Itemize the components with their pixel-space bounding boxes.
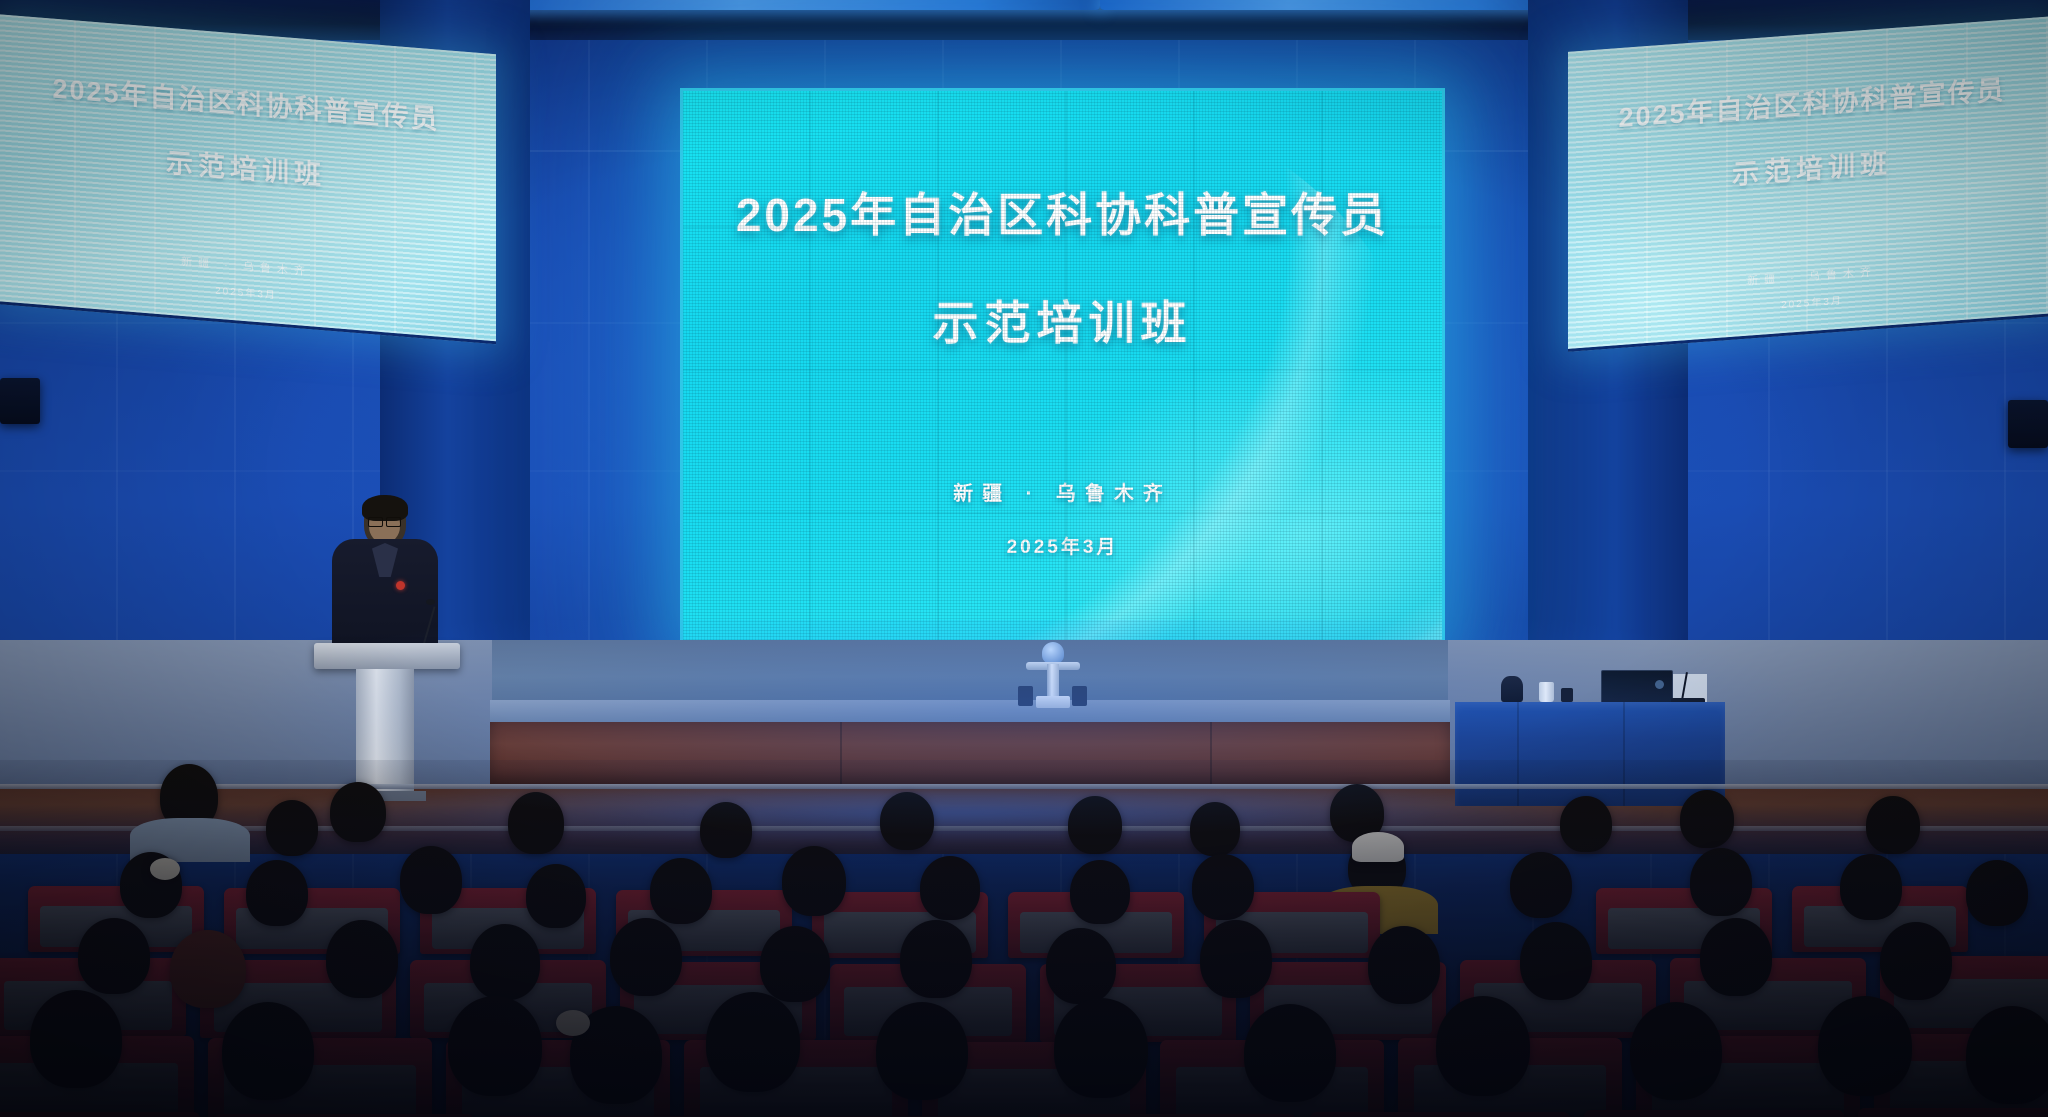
device-column xyxy=(1047,664,1059,698)
slide-date: 2025年3月 xyxy=(1007,532,1119,559)
device-head xyxy=(1042,642,1064,664)
seated-audience xyxy=(0,760,2048,1117)
right-screen-scanlines xyxy=(1568,16,2048,349)
audience-shadow-overlay xyxy=(0,760,2048,1117)
device-box-right xyxy=(1072,686,1087,706)
right-led-screen: 2025年自治区科协科普宣传员 示范培训班 新疆 · 乌鲁木齐 2025年3月 xyxy=(1568,16,2048,352)
stage-projector-device xyxy=(1020,640,1086,710)
device-box-left xyxy=(1018,686,1033,706)
ceiling-light-strip-right xyxy=(1100,0,1570,10)
speaker-glasses xyxy=(368,517,401,525)
paper-cup xyxy=(1539,682,1554,702)
podium-microphone-head xyxy=(426,599,435,605)
left-led-screen: 2025年自治区科协科普宣传员 示范培训班 新疆 · 乌鲁木齐 2025年3月 xyxy=(0,14,496,344)
ceiling-light-strip-left xyxy=(500,0,1100,10)
podium-top xyxy=(314,643,460,669)
auditorium-photo: 2025年自治区科协科普宣传员 示范培训班 新疆 · 乌鲁木齐 2025年3月 … xyxy=(0,0,2048,1117)
wall-speaker-left xyxy=(0,378,40,424)
device-base xyxy=(1036,696,1070,708)
slide-location: 新疆 · 乌鲁木齐 xyxy=(953,477,1172,506)
small-box-item xyxy=(1561,688,1573,702)
thermos-flask xyxy=(1501,676,1523,702)
speaker-at-podium xyxy=(310,495,460,795)
slide-title-line-2: 示范培训班 xyxy=(933,287,1193,353)
slide-footer: 新疆 · 乌鲁木齐 2025年3月 xyxy=(683,477,1442,559)
left-screen-scanlines xyxy=(0,14,496,341)
slide-content: 2025年自治区科协科普宣传员 示范培训班 新疆 · 乌鲁木齐 2025年3月 xyxy=(683,91,1442,655)
slide-title-line-1: 2025年自治区科协科普宣传员 xyxy=(736,179,1389,245)
stage-platform-top xyxy=(490,700,1450,722)
main-led-screen: 2025年自治区科协科普宣传员 示范培训班 新疆 · 乌鲁木齐 2025年3月 xyxy=(680,88,1445,658)
wall-speaker-right xyxy=(2008,400,2048,448)
lapel-pin-icon xyxy=(396,581,405,590)
laptop-logo-icon xyxy=(1655,680,1664,689)
